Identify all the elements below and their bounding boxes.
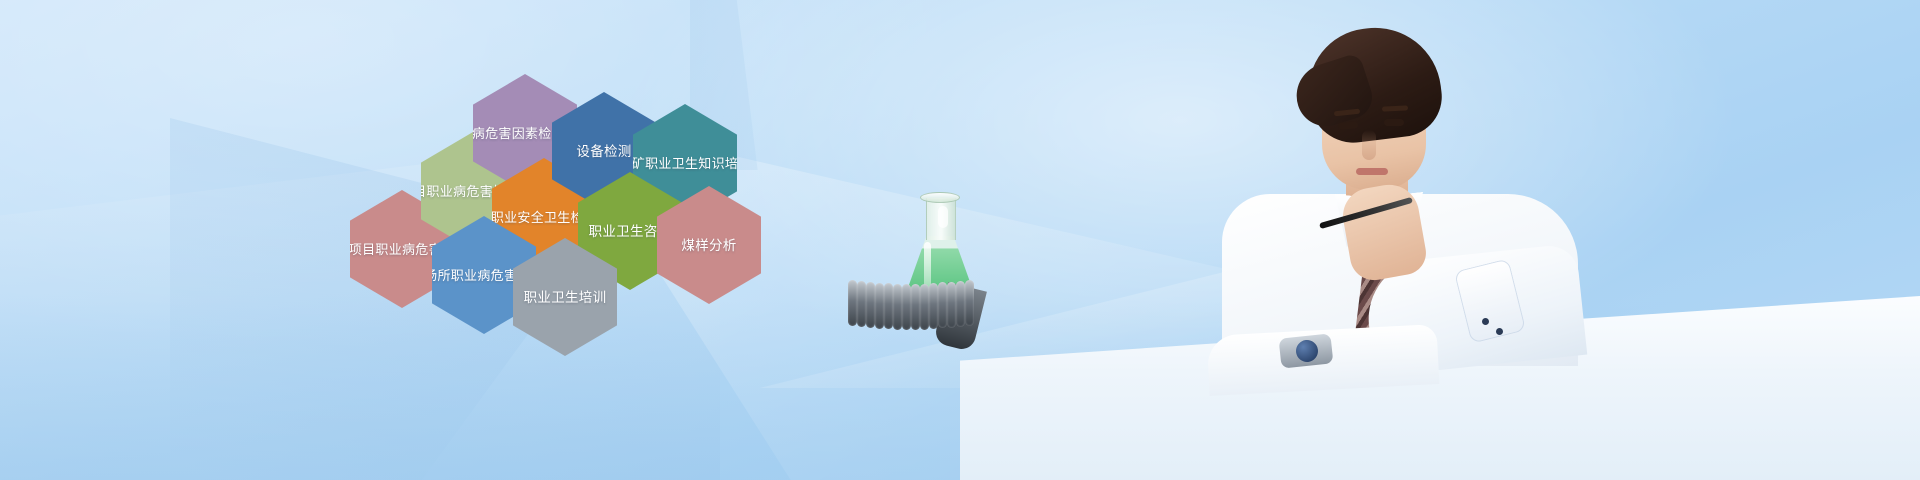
hexagon-label: 职业卫生培训 [524, 289, 607, 306]
laboratory-scene [820, 0, 1920, 480]
condenser-coil-band [965, 280, 974, 326]
mouth [1356, 168, 1388, 175]
banner-root: 建设项目职业病危害预评价建设项目职业病危害控制效果评价职业病危害因素检测与评价煤… [0, 0, 1920, 480]
flask-rim [920, 192, 960, 203]
condenser-coil-band [902, 284, 911, 330]
cuff-button-lower [1496, 328, 1503, 335]
eye-right [1384, 119, 1404, 126]
condenser-coil-band [947, 282, 956, 328]
nose [1362, 130, 1376, 160]
cuff-button-upper [1482, 318, 1489, 325]
condenser-coil-band [956, 281, 965, 327]
eye-left [1338, 121, 1358, 129]
condenser-coil-band [938, 282, 947, 328]
hexagon-label: 煤矿职业卫生知识培训 [619, 155, 752, 172]
condenser-coil-band [911, 284, 920, 330]
condenser-coil-band [929, 283, 938, 329]
researcher-figure [1110, 18, 1590, 348]
condenser-coil-band [920, 284, 929, 330]
flask-neck-highlight [938, 206, 948, 228]
hexagon-label: 煤样分析 [681, 237, 736, 254]
hexagon-cluster: 建设项目职业病危害预评价建设项目职业病危害控制效果评价职业病危害因素检测与评价煤… [0, 0, 900, 480]
hexagon-label: 设备检测 [576, 143, 631, 160]
